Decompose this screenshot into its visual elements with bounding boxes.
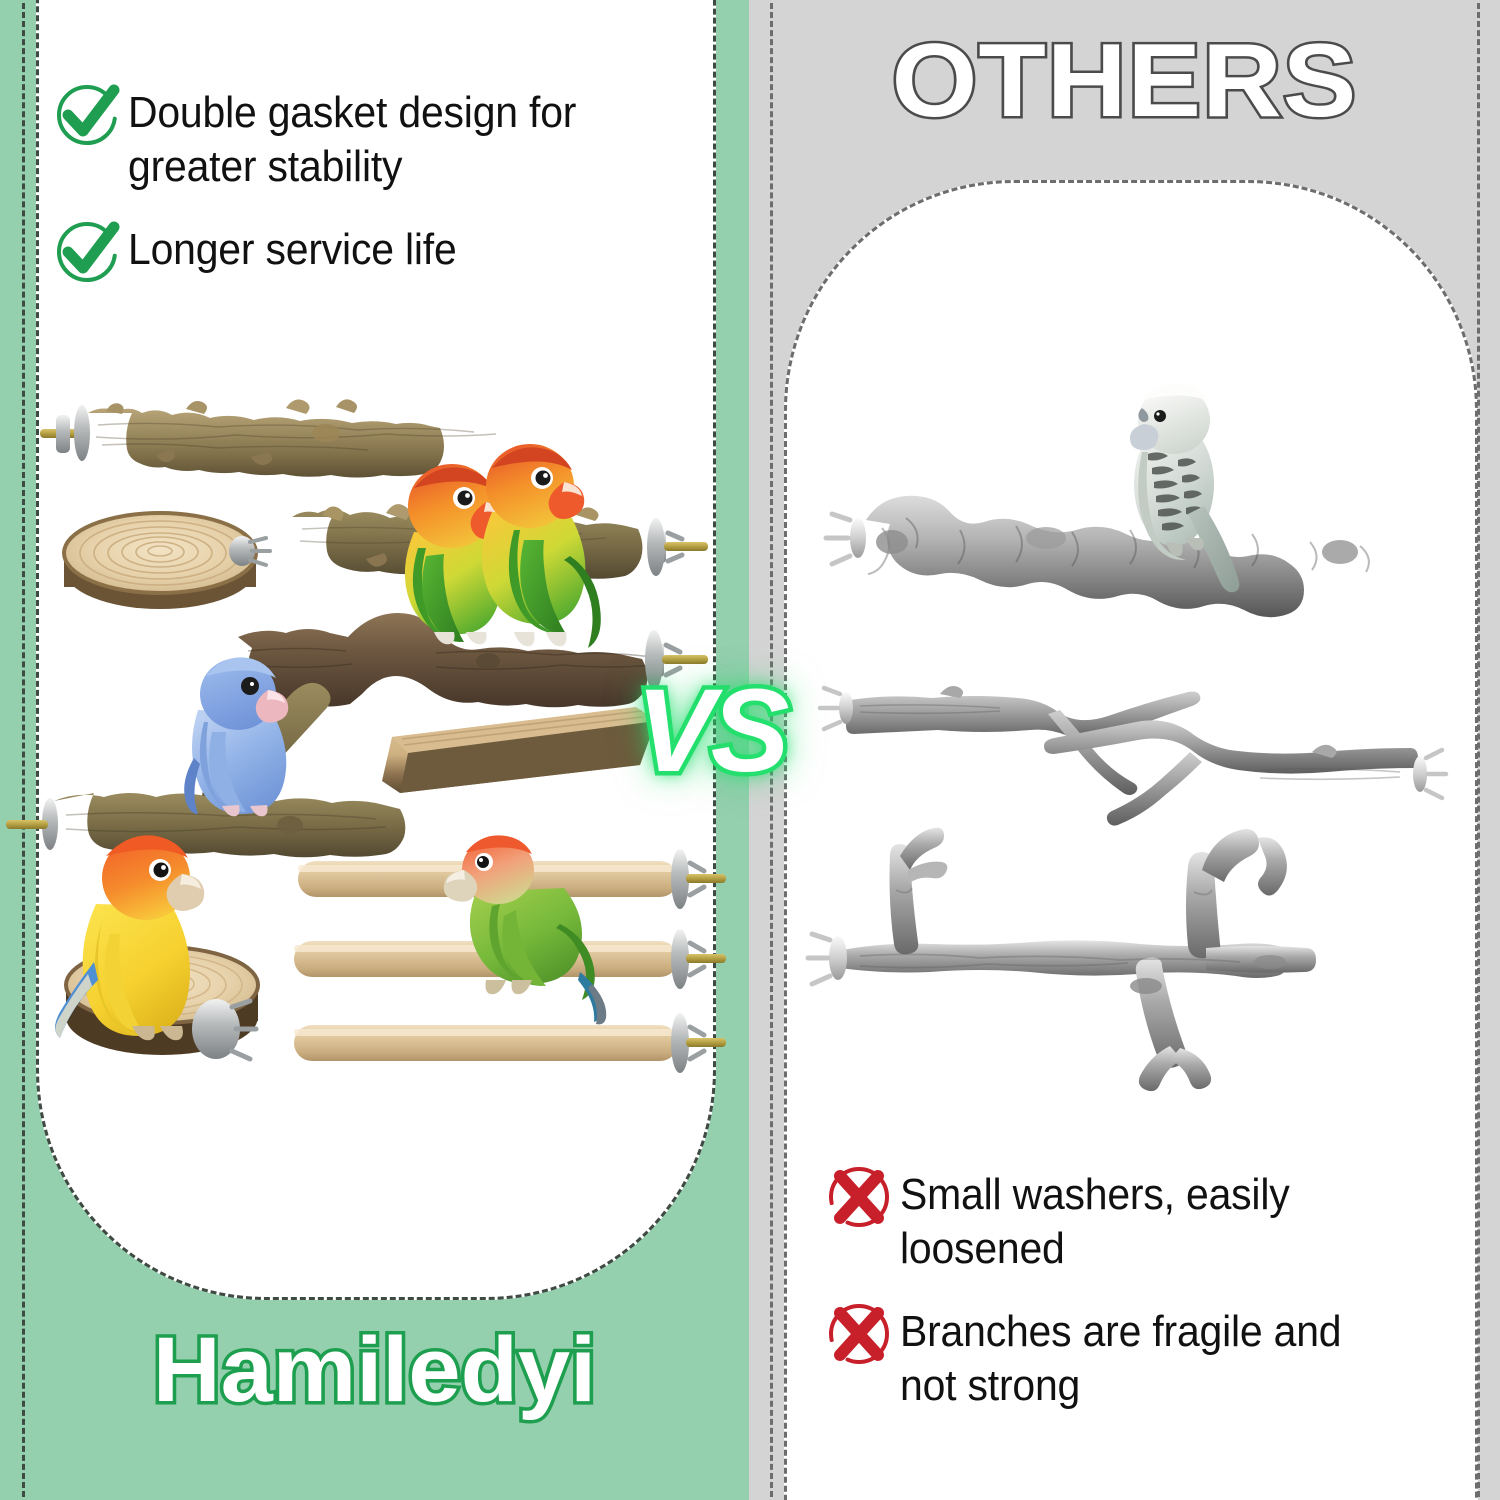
drawback-text: Branches are fragile and not strong [900, 1305, 1341, 1412]
gray-multi-fork-branch-perch [808, 828, 1316, 1091]
left-feature-list: Double gasket design for greater stabili… [54, 86, 714, 315]
parrotlet-blue [168, 648, 338, 818]
drawback-text: Small washers, easily loosened [900, 1168, 1290, 1275]
drawback-item-1: Small washers, easily loosened [826, 1168, 1466, 1275]
feature-item-1: Double gasket design for greater stabili… [54, 86, 714, 193]
feature-item-2: Longer service life [54, 223, 714, 285]
feature-text: Double gasket design for greater stabili… [128, 86, 576, 193]
lovebird-yellow-orange [36, 830, 256, 1060]
wood-slice-platform-small [64, 513, 270, 609]
check-circle-icon [54, 219, 120, 285]
budgie-gray-white [1108, 378, 1288, 608]
drawback-item-2: Branches are fragile and not strong [826, 1305, 1466, 1412]
cross-circle-icon [826, 1164, 892, 1230]
lovebird-green-peach [440, 832, 630, 1022]
check-circle-icon [54, 82, 120, 148]
dowel-perch-bottom [294, 1013, 726, 1073]
others-heading: OTHERS [726, 28, 1500, 134]
left-frame-dashed-border [22, 0, 25, 1500]
gray-y-branch-perch-upper [820, 686, 1200, 795]
flat-wood-plank-perch [382, 707, 656, 793]
right-drawback-list: Small washers, easily loosened Branches … [826, 1168, 1466, 1443]
cross-circle-icon [826, 1301, 892, 1367]
vs-badge: VS [636, 672, 785, 790]
brand-logo-text: Hamiledyi [0, 1322, 756, 1419]
far-right-dashed-border [1477, 0, 1480, 1500]
comparison-infographic: OTHERS Hamiledyi VS Double gasket design… [0, 0, 1500, 1500]
feature-text: Longer service life [128, 223, 457, 277]
lovebird-pair-green-orange [374, 436, 624, 666]
lovebird-right [482, 444, 601, 648]
